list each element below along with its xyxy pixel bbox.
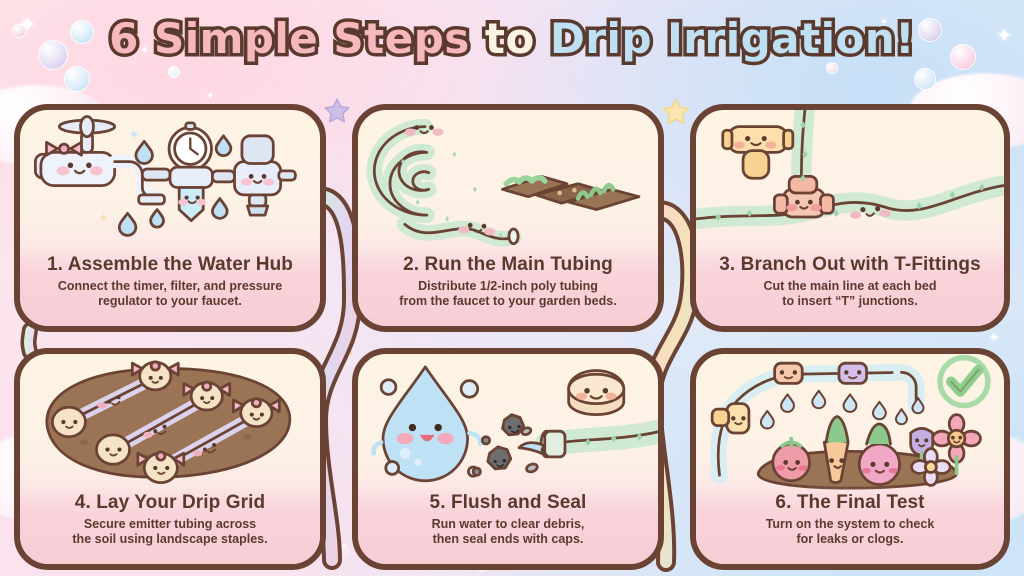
step-3-caption: 3. Branch Out with T-Fittings Cut the ma… bbox=[696, 248, 1004, 326]
step-card-5[interactable]: 5. Flush and Seal Run water to clear deb… bbox=[352, 348, 664, 570]
step-1-body: Connect the timer, filter, and pressure … bbox=[20, 279, 320, 310]
step-card-1[interactable]: ✦ ✦ 1. Assemble the Water Hub Connect th… bbox=[14, 104, 326, 332]
step-5-illustration bbox=[358, 354, 658, 490]
step-2-caption: 2. Run the Main Tubing Distribute 1/2-in… bbox=[358, 248, 658, 326]
step-6-body-line2: for leaks or clogs. bbox=[797, 532, 904, 546]
step-1-body-line2: regulator to your faucet. bbox=[98, 294, 242, 308]
step-3-heading: 3. Branch Out with T-Fittings bbox=[696, 254, 1004, 276]
svg-text:✦: ✦ bbox=[128, 128, 140, 144]
step-4-body: Secure emitter tubing across the soil us… bbox=[20, 517, 320, 548]
step-2-heading: 2. Run the Main Tubing bbox=[358, 254, 658, 276]
step-3-body-line2: to insert “T” junctions. bbox=[782, 294, 917, 308]
step-4-heading: 4. Lay Your Drip Grid bbox=[20, 492, 320, 514]
step-2-body-line1: Distribute 1/2-inch poly tubing bbox=[418, 279, 598, 293]
step-card-3[interactable]: 3. Branch Out with T-Fittings Cut the ma… bbox=[690, 104, 1010, 332]
step-6-caption: 6. The Final Test Turn on the system to … bbox=[696, 486, 1004, 564]
step-6-body-line1: Turn on the system to check bbox=[766, 517, 935, 531]
step-1-caption: 1. Assemble the Water Hub Connect the ti… bbox=[20, 248, 320, 326]
step-2-body-line2: from the faucet to your garden beds. bbox=[399, 294, 616, 308]
step-6-heading: 6. The Final Test bbox=[696, 492, 1004, 514]
svg-text:✦: ✦ bbox=[98, 210, 109, 225]
step-5-body-line2: then seal ends with caps. bbox=[433, 532, 584, 546]
step-6-body: Turn on the system to check for leaks or… bbox=[696, 517, 1004, 548]
step-3-body: Cut the main line at each bed to insert … bbox=[696, 279, 1004, 310]
step-4-illustration bbox=[20, 354, 320, 490]
step-2-illustration bbox=[358, 110, 658, 252]
step-5-body-line1: Run water to clear debris, bbox=[432, 517, 585, 531]
step-card-4[interactable]: 4. Lay Your Drip Grid Secure emitter tub… bbox=[14, 348, 326, 570]
step-4-caption: 4. Lay Your Drip Grid Secure emitter tub… bbox=[20, 486, 320, 564]
step-card-6[interactable]: 6. The Final Test Turn on the system to … bbox=[690, 348, 1010, 570]
step-2-body: Distribute 1/2-inch poly tubing from the… bbox=[358, 279, 658, 310]
step-1-illustration: ✦ ✦ bbox=[20, 110, 320, 252]
step-3-body-line1: Cut the main line at each bed bbox=[764, 279, 937, 293]
step-card-2[interactable]: 2. Run the Main Tubing Distribute 1/2-in… bbox=[352, 104, 664, 332]
step-5-heading: 5. Flush and Seal bbox=[358, 492, 658, 514]
step-3-illustration bbox=[696, 110, 1004, 252]
step-6-illustration bbox=[696, 354, 1004, 490]
step-1-heading: 1. Assemble the Water Hub bbox=[20, 254, 320, 276]
step-5-caption: 5. Flush and Seal Run water to clear deb… bbox=[358, 486, 658, 564]
step-4-body-line2: the soil using landscape staples. bbox=[72, 532, 267, 546]
step-4-body-line1: Secure emitter tubing across bbox=[84, 517, 256, 531]
step-5-body: Run water to clear debris, then seal end… bbox=[358, 517, 658, 548]
step-1-body-line1: Connect the timer, filter, and pressure bbox=[58, 279, 282, 293]
